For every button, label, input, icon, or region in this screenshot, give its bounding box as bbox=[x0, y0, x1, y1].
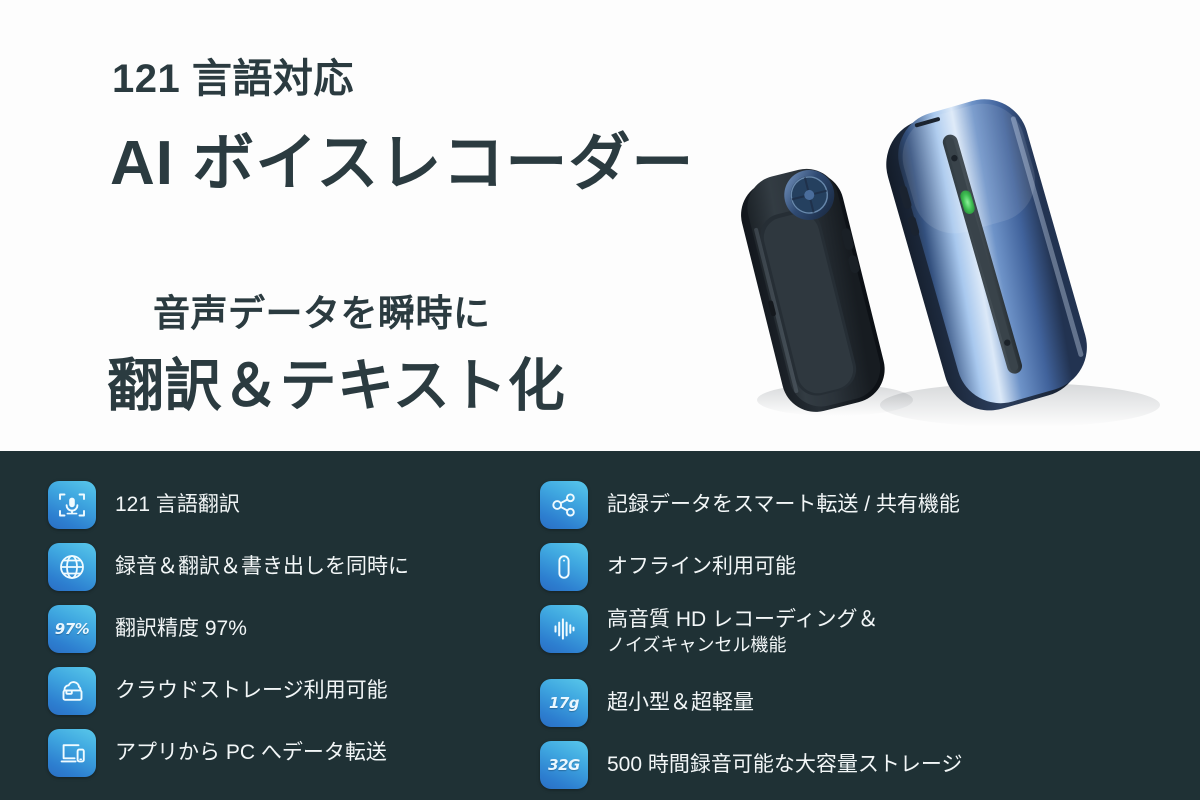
hero-eyebrow: 121 言語対応 bbox=[112, 46, 354, 104]
storage-badge-value: 32G bbox=[548, 756, 580, 774]
feature-item-translation-languages[interactable]: 121 言語翻訳 bbox=[48, 481, 240, 529]
feature-label: 録音＆翻訳＆書き出しを同時に bbox=[115, 543, 409, 591]
storage-badge-icon: 32G bbox=[540, 741, 588, 789]
page-title: AI ボイスレコーダー bbox=[110, 112, 694, 202]
globe-icon bbox=[48, 543, 96, 591]
cloud-storage-icon bbox=[48, 667, 96, 715]
feature-item-cloud-storage[interactable]: クラウドストレージ利用可能 bbox=[48, 667, 388, 715]
accuracy-badge-value: 97% bbox=[55, 620, 89, 638]
feature-item-lightweight[interactable]: 17g 超小型＆超軽量 bbox=[540, 679, 754, 727]
feature-label-line1: 高音質 HD レコーディング＆ bbox=[607, 608, 879, 631]
feature-label: 500 時間録音可能な大容量ストレージ bbox=[607, 741, 962, 789]
feature-item-simultaneous-record-translate[interactable]: 録音＆翻訳＆書き出しを同時に bbox=[48, 543, 409, 591]
feature-item-offline-use[interactable]: オフライン利用可能 bbox=[540, 543, 796, 591]
feature-item-pc-transfer[interactable]: アプリから PC へデータ転送 bbox=[48, 729, 387, 777]
product-image bbox=[720, 60, 1200, 451]
features-panel: 121 言語翻訳 録音＆翻訳＆書き出しを同時に 97% 翻訳精度 bbox=[0, 451, 1200, 800]
feature-label: クラウドストレージ利用可能 bbox=[115, 667, 388, 715]
hero-copy: 121 言語対応 AI ボイスレコーダー 音声データを瞬時に 翻訳＆テキスト化 bbox=[0, 0, 720, 451]
feature-label: 121 言語翻訳 bbox=[115, 481, 240, 529]
feature-label: アプリから PC へデータ転送 bbox=[115, 729, 387, 777]
feature-label: 記録データをスマート転送 / 共有機能 bbox=[607, 481, 960, 529]
feature-item-hd-recording[interactable]: 高音質 HD レコーディング＆ ノイズキャンセル機能 bbox=[540, 605, 879, 653]
hero-subtitle-line1: 音声データを瞬時に bbox=[153, 283, 491, 337]
share-icon bbox=[540, 481, 588, 529]
feature-label: 超小型＆超軽量 bbox=[607, 679, 754, 727]
waveform-icon bbox=[540, 605, 588, 653]
feature-item-translation-accuracy[interactable]: 97% 翻訳精度 97% bbox=[48, 605, 247, 653]
feature-label-line2: ノイズキャンセル機能 bbox=[607, 634, 879, 657]
weight-badge-icon: 17g bbox=[540, 679, 588, 727]
accuracy-badge-icon: 97% bbox=[48, 605, 96, 653]
pc-transfer-icon bbox=[48, 729, 96, 777]
mic-scan-icon bbox=[48, 481, 96, 529]
feature-item-smart-share[interactable]: 記録データをスマート転送 / 共有機能 bbox=[540, 481, 960, 529]
hero-subtitle-line2: 翻訳＆テキスト化 bbox=[107, 340, 565, 422]
hero-section: 121 言語対応 AI ボイスレコーダー 音声データを瞬時に 翻訳＆テキスト化 bbox=[0, 0, 1200, 451]
weight-badge-value: 17g bbox=[549, 694, 579, 712]
feature-label: 翻訳精度 97% bbox=[115, 605, 247, 653]
feature-item-storage-capacity[interactable]: 32G 500 時間録音可能な大容量ストレージ bbox=[540, 741, 962, 789]
device-outline-icon bbox=[540, 543, 588, 591]
promo-page: 121 言語対応 AI ボイスレコーダー 音声データを瞬時に 翻訳＆テキスト化 bbox=[0, 0, 1200, 800]
feature-label-multiline: 高音質 HD レコーディング＆ ノイズキャンセル機能 bbox=[607, 605, 879, 657]
feature-label: オフライン利用可能 bbox=[607, 543, 796, 591]
